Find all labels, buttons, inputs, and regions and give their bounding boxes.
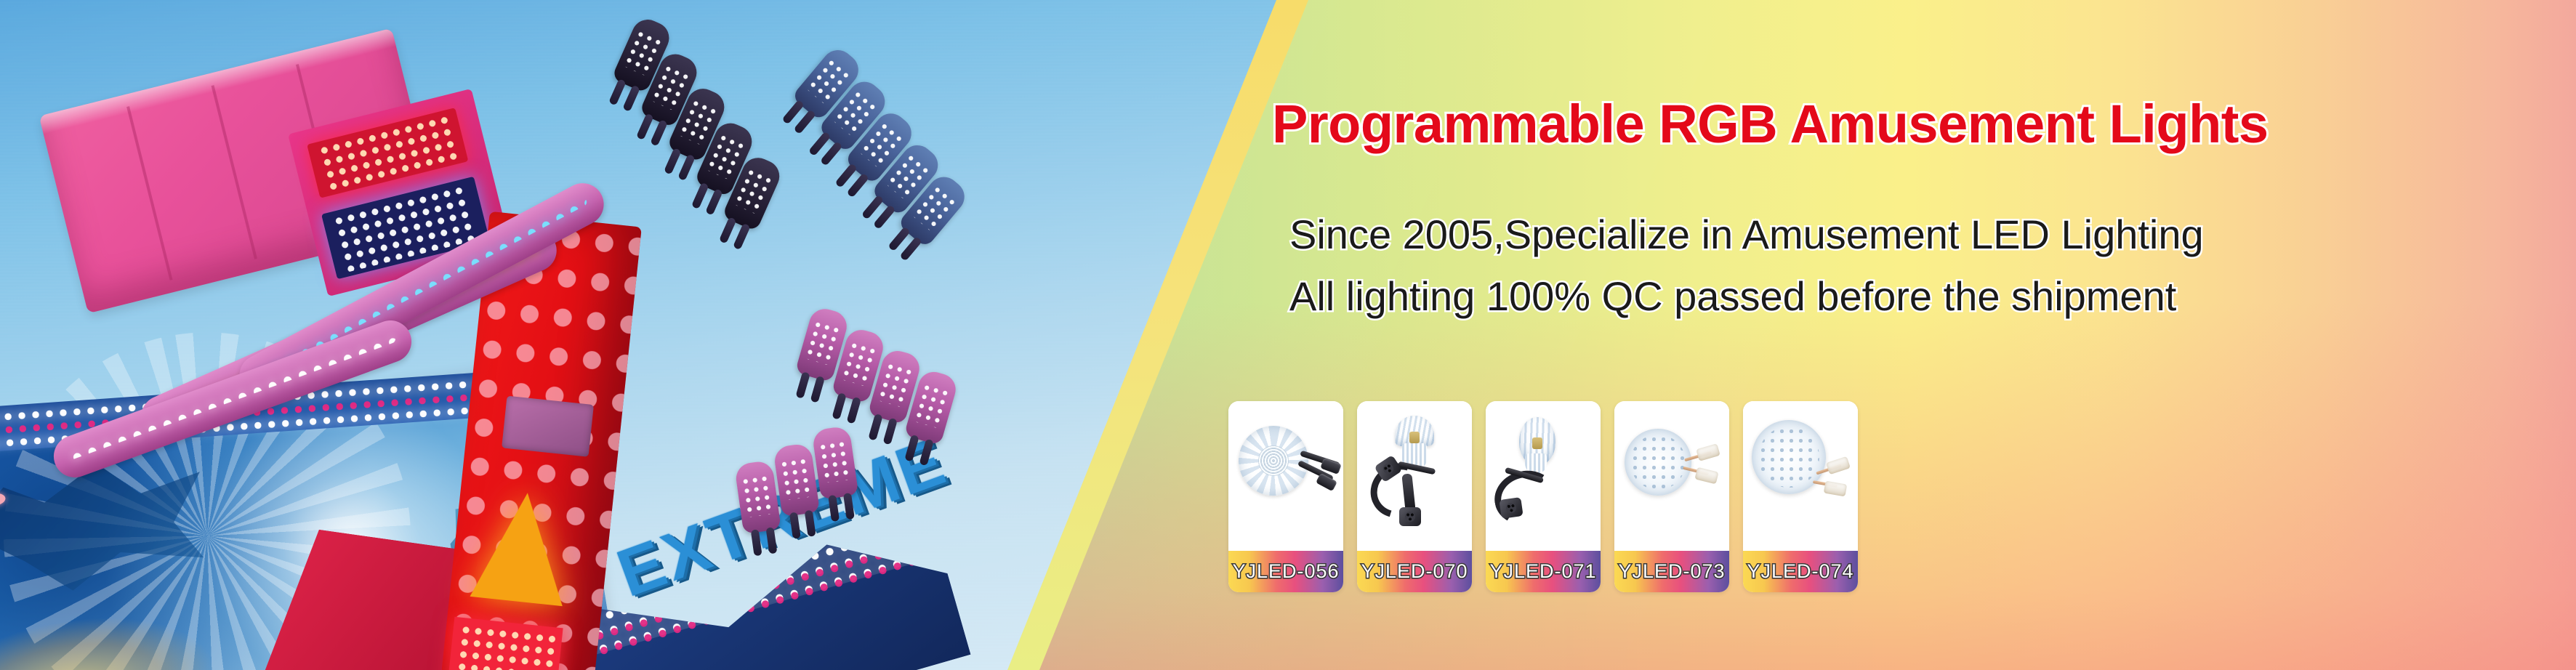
product-label-bar: YJLED-071 bbox=[1486, 551, 1601, 592]
product-label-bar: YJLED-070 bbox=[1357, 551, 1472, 592]
product-label-bar: YJLED-056 bbox=[1228, 551, 1343, 592]
product-image bbox=[1486, 401, 1601, 551]
tower-plate bbox=[502, 396, 594, 457]
product-code: YJLED-073 bbox=[1618, 560, 1725, 583]
product-card-list: YJLED-056 bbox=[1228, 401, 1858, 592]
product-label-bar: YJLED-073 bbox=[1614, 551, 1729, 592]
product-card[interactable]: YJLED-074 bbox=[1743, 401, 1858, 592]
product-image bbox=[1614, 401, 1729, 551]
product-image bbox=[1357, 401, 1472, 551]
subtitle-line-2: All lighting 100% QC passed before the s… bbox=[1289, 273, 2176, 320]
tower-amber-triangle-lights bbox=[470, 488, 573, 607]
product-card[interactable]: YJLED-070 bbox=[1357, 401, 1472, 592]
product-card[interactable]: YJLED-056 bbox=[1228, 401, 1343, 592]
led-cluster-disc-large-icon bbox=[1743, 401, 1858, 551]
product-image bbox=[1743, 401, 1858, 551]
led-egg-bulb-icon bbox=[1486, 401, 1601, 551]
product-code: YJLED-070 bbox=[1361, 560, 1468, 583]
banner-content: Programmable RGB Amusement Lights Since … bbox=[1228, 0, 2576, 670]
led-swirl-disc-icon bbox=[1228, 401, 1343, 551]
product-card[interactable]: YJLED-073 bbox=[1614, 401, 1729, 592]
product-code: YJLED-074 bbox=[1747, 560, 1853, 583]
product-image bbox=[1228, 401, 1343, 551]
page-title: Programmable RGB Amusement Lights bbox=[1272, 93, 2269, 155]
promotional-banner: EXTREME bbox=[0, 0, 2576, 670]
led-cluster-disc-icon bbox=[1614, 401, 1729, 551]
subtitle-line-1: Since 2005,Specialize in Amusement LED L… bbox=[1289, 211, 2204, 258]
product-card[interactable]: YJLED-071 bbox=[1486, 401, 1601, 592]
product-code: YJLED-056 bbox=[1232, 560, 1339, 583]
led-dome-bulb-icon bbox=[1357, 401, 1472, 551]
product-label-bar: YJLED-074 bbox=[1743, 551, 1858, 592]
product-code: YJLED-071 bbox=[1489, 560, 1596, 583]
